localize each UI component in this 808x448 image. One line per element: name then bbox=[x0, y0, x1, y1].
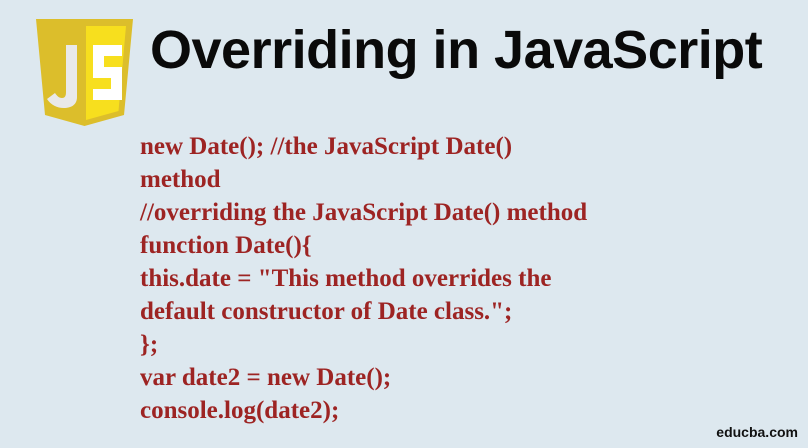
slide-canvas: Overriding in JavaScript new Date(); //t… bbox=[0, 0, 808, 448]
code-line: }; bbox=[140, 328, 760, 361]
code-snippet: new Date(); //the JavaScript Date() meth… bbox=[140, 130, 760, 427]
code-line: console.log(date2); bbox=[140, 394, 760, 427]
code-line: this.date = "This method overrides the bbox=[140, 262, 760, 295]
code-line: method bbox=[140, 163, 760, 196]
code-line: new Date(); //the JavaScript Date() bbox=[140, 130, 760, 163]
javascript-logo-icon bbox=[36, 19, 133, 126]
code-line: function Date(){ bbox=[140, 229, 760, 262]
code-line: default constructor of Date class."; bbox=[140, 295, 760, 328]
watermark: educba.com bbox=[716, 424, 798, 440]
slide-header: Overriding in JavaScript bbox=[0, 0, 808, 128]
code-line: //overriding the JavaScript Date() metho… bbox=[140, 196, 760, 229]
page-title: Overriding in JavaScript bbox=[150, 18, 762, 82]
code-line: var date2 = new Date(); bbox=[140, 361, 760, 394]
